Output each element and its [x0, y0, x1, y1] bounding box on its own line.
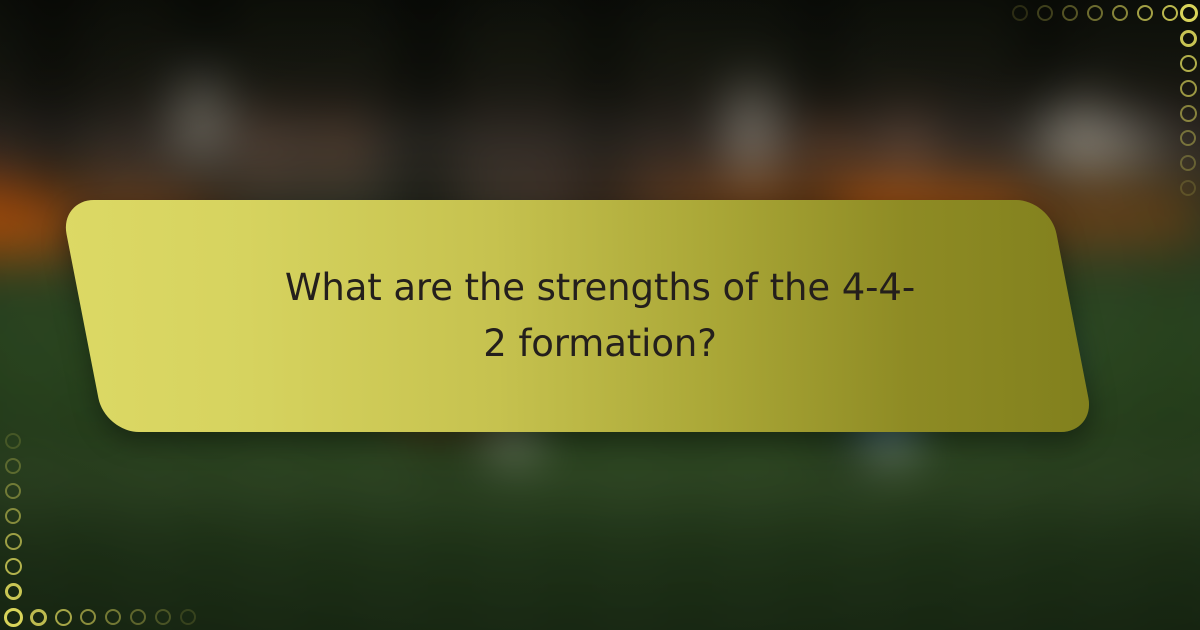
ring-dot [5, 508, 21, 524]
ring-dot [180, 609, 196, 625]
ring-dot [105, 609, 121, 625]
ring-dot [30, 609, 47, 626]
ring-dot [5, 483, 21, 499]
dot-cluster-top-right-column [0, 0, 1200, 220]
question-text: What are the strengths of the 4-4-2 form… [280, 260, 920, 372]
ring-dot [1180, 105, 1197, 122]
question-card-content: What are the strengths of the 4-4-2 form… [150, 200, 1050, 432]
ring-dot [5, 533, 22, 550]
ring-dot [5, 558, 22, 575]
dot-cluster-bottom-left-row [0, 600, 260, 630]
ring-dot [4, 608, 23, 627]
ring-dot [55, 609, 72, 626]
ring-dot [80, 609, 96, 625]
ring-dot [1180, 180, 1196, 196]
ring-dot [1180, 130, 1196, 146]
ring-dot [5, 458, 21, 474]
question-card: What are the strengths of the 4-4-2 form… [0, 200, 1200, 432]
ring-dot [155, 609, 171, 625]
ring-dot [130, 609, 146, 625]
ring-dot [5, 583, 22, 600]
question-card-graphic: What are the strengths of the 4-4-2 form… [0, 0, 1200, 630]
ring-dot [1180, 30, 1197, 47]
ring-dot [1180, 55, 1197, 72]
ring-dot [5, 433, 21, 449]
ring-dot [1180, 80, 1197, 97]
ring-dot [1180, 155, 1196, 171]
